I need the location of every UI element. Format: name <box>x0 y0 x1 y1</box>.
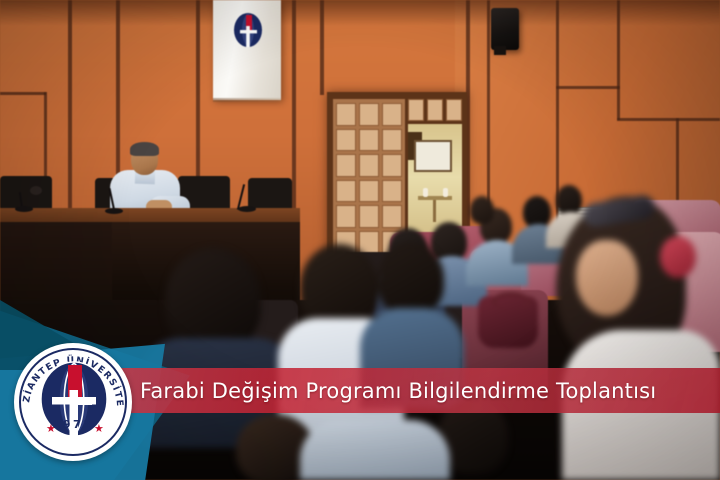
speaker-bracket <box>494 46 506 55</box>
lobby-object <box>423 188 428 197</box>
audience-shoulders <box>562 330 720 480</box>
door-panel-grid <box>336 103 402 253</box>
hanging-banner-logo-icon <box>231 12 265 54</box>
wall-speaker-icon <box>491 8 519 50</box>
wall-seam <box>556 86 620 89</box>
hair-accessory <box>660 236 696 278</box>
lobby-notice-board <box>414 140 452 172</box>
audience-shoulders <box>300 420 450 480</box>
handbag-strap <box>492 292 530 310</box>
wall-seam <box>617 0 620 120</box>
audience-face <box>576 240 638 316</box>
lobby-object <box>443 188 448 197</box>
audience-shoulders <box>360 308 464 408</box>
audience-head <box>470 196 494 224</box>
wall-seam <box>0 92 46 95</box>
microphone-base <box>238 206 256 212</box>
wall-seam <box>617 118 720 121</box>
microphone-base <box>105 208 123 214</box>
wall-seam <box>292 0 296 212</box>
microphone-base <box>15 206 33 212</box>
door-transom-panels <box>408 99 462 121</box>
audience-head <box>165 248 261 352</box>
audience-head <box>378 242 444 316</box>
banner-bottom-edge <box>213 98 281 102</box>
screenshot-root: Farabi Değişim Programı Bilgilendirme To… <box>0 0 720 480</box>
lobby-table-leg <box>433 200 436 222</box>
wall-seam <box>68 0 72 215</box>
head-table-chair <box>0 176 52 210</box>
wall-top-shadow <box>0 0 720 26</box>
table-object <box>30 186 42 195</box>
audience-head <box>556 185 582 215</box>
wall-seam <box>320 0 324 95</box>
presenter-hair <box>130 142 159 156</box>
photograph <box>0 0 720 480</box>
head-table-chair <box>248 178 292 210</box>
